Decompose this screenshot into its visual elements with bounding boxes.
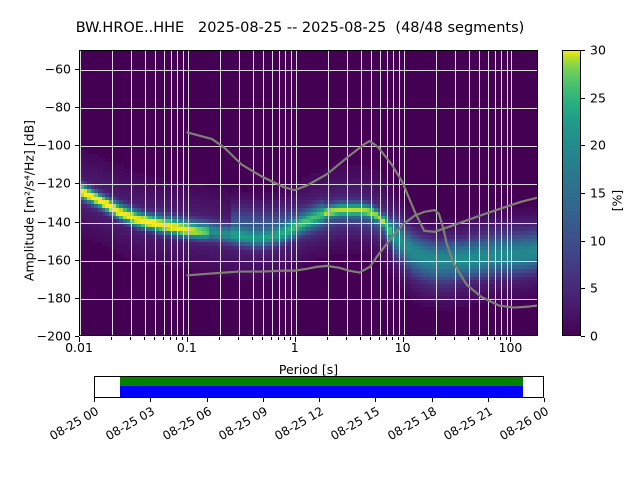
coverage-tick-label: 08-25 21 — [429, 404, 495, 450]
colorbar-tick-mark — [581, 98, 585, 99]
x-tick-minor — [144, 337, 145, 340]
y-tick-label: −60 — [5, 62, 71, 77]
coverage-tick-mark — [432, 398, 433, 402]
x-tick-minor — [468, 337, 469, 340]
figure-title: BW.HROE..HHE 2025-08-25 -- 2025-08-25 (4… — [0, 20, 600, 36]
y-tick-label: −180 — [5, 290, 71, 305]
coverage-bar-green — [120, 377, 523, 386]
coverage-tick-mark — [488, 398, 489, 402]
colorbar-tick-mark — [581, 145, 585, 146]
x-tick-label: 1 — [260, 340, 330, 355]
colorbar-tick-label: 5 — [590, 281, 598, 296]
coverage-tick-label: 08-25 15 — [316, 404, 382, 450]
coverage-tick-mark — [150, 398, 151, 402]
x-tick-label: 0.1 — [152, 340, 222, 355]
x-tick-minor — [454, 337, 455, 340]
x-tick-minor — [252, 337, 253, 340]
noise-model-nlnm — [187, 210, 537, 308]
coverage-tick-mark — [544, 398, 545, 402]
colorbar-label: [%] — [610, 156, 625, 246]
coverage-tick-label: 08-25 09 — [204, 404, 270, 450]
y-tick-label: −80 — [5, 100, 71, 115]
colorbar-tick-label: 25 — [590, 90, 606, 105]
colorbar-tick-mark — [581, 193, 585, 194]
colorbar-tick-label: 10 — [590, 233, 606, 248]
ppsd-plot-area[interactable] — [79, 50, 538, 336]
noise-model-nhnm — [187, 132, 537, 231]
colorbar[interactable] — [562, 50, 581, 336]
coverage-tick-mark — [319, 398, 320, 402]
colorbar-tick-label: 30 — [590, 43, 606, 58]
x-axis-label: Period [s] — [79, 362, 538, 377]
y-tick-label: −140 — [5, 214, 71, 229]
coverage-tick-mark — [94, 398, 95, 402]
ppsd-figure: BW.HROE..HHE 2025-08-25 -- 2025-08-25 (4… — [0, 0, 640, 480]
colorbar-tick-mark — [581, 50, 585, 51]
y-tick-label: −120 — [5, 176, 71, 191]
coverage-tick-label: 08-25 06 — [148, 404, 214, 450]
coverage-tick-label: 08-26 00 — [485, 404, 551, 450]
colorbar-tick-label: 0 — [590, 329, 598, 344]
x-tick-label: 10 — [368, 340, 438, 355]
colorbar-tick-mark — [581, 336, 585, 337]
x-tick-label: 100 — [475, 340, 545, 355]
coverage-timeline[interactable] — [94, 376, 544, 398]
colorbar-tick-label: 15 — [590, 186, 606, 201]
coverage-tick-label: 08-25 18 — [373, 404, 439, 450]
colorbar-tick-mark — [581, 241, 585, 242]
x-tick-label: 0.01 — [44, 340, 114, 355]
colorbar-tick-mark — [581, 288, 585, 289]
colorbar-tick-label: 20 — [590, 138, 606, 153]
coverage-tick-mark — [375, 398, 376, 402]
coverage-tick-label: 08-25 12 — [260, 404, 326, 450]
x-tick-minor — [130, 337, 131, 340]
coverage-tick-label: 08-25 00 — [35, 404, 101, 450]
coverage-bar-blue — [120, 386, 523, 397]
y-tick-label: −160 — [5, 252, 71, 267]
x-tick-minor — [346, 337, 347, 340]
x-tick-minor — [238, 337, 239, 340]
y-tick-label: −100 — [5, 138, 71, 153]
coverage-tick-mark — [207, 398, 208, 402]
noise-model-lines — [80, 51, 537, 335]
coverage-tick-label: 08-25 03 — [91, 404, 157, 450]
coverage-tick-mark — [263, 398, 264, 402]
x-tick-minor — [360, 337, 361, 340]
